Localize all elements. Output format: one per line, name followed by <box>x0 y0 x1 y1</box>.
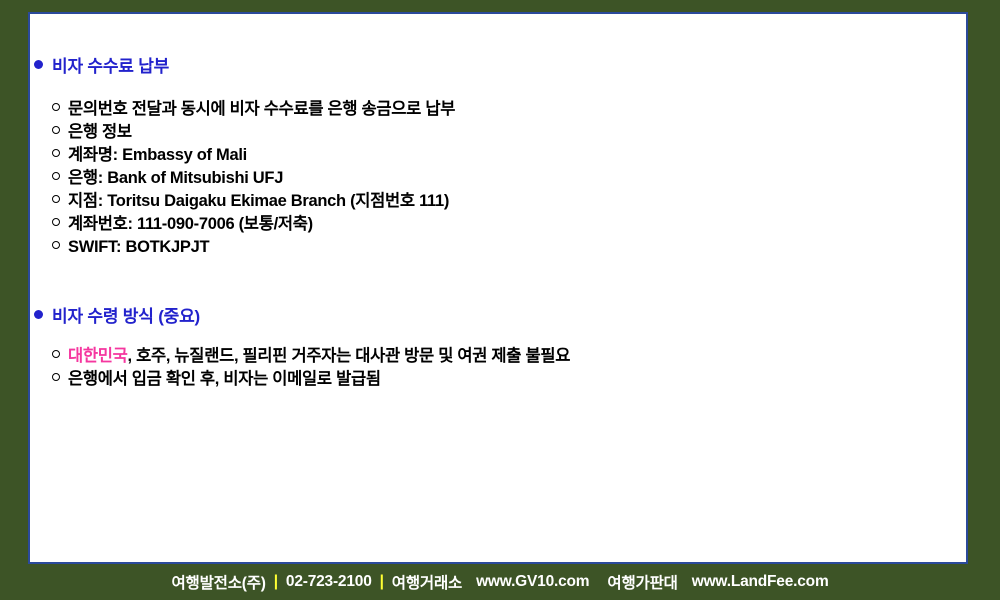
list-item: SWIFT: BOTKJPJT <box>52 236 455 259</box>
filled-bullet-icon <box>34 60 43 69</box>
slide-root: 비자 수수료 납부 문의번호 전달과 동시에 비자 수수료를 은행 송금으로 납… <box>0 0 1000 600</box>
list-item-label: 계좌번호: 111-090-7006 (보통/저축) <box>68 213 313 236</box>
hollow-bullet-icon <box>52 149 60 157</box>
section-heading-visa-delivery-method: 비자 수령 방식 (중요) <box>34 302 200 327</box>
hollow-bullet-icon <box>52 103 60 111</box>
list-item: 은행에서 입금 확인 후, 비자는 이메일로 발급됨 <box>52 368 570 391</box>
list-item: 대한민국, 호주, 뉴질랜드, 필리핀 거주자는 대사관 방문 및 여권 제출 … <box>52 345 570 368</box>
list-item-label: 은행: Bank of Mitsubishi UFJ <box>68 167 283 190</box>
footer-brand-1-url[interactable]: www.GV10.com <box>462 573 589 591</box>
footer-separator-2: | <box>372 573 392 591</box>
footer-phone-number: 02-723-2100 <box>286 573 372 591</box>
hollow-bullet-icon <box>52 373 60 381</box>
footer-separator-1: | <box>266 573 286 591</box>
bullet-list-visa-fee-payment: 문의번호 전달과 동시에 비자 수수료를 은행 송금으로 납부 은행 정보 계좌… <box>52 98 455 259</box>
list-item-label: 은행에서 입금 확인 후, 비자는 이메일로 발급됨 <box>68 368 381 391</box>
list-item: 은행 정보 <box>52 121 455 144</box>
footer-brand-2-name: 여행가판대 <box>589 571 677 593</box>
hollow-bullet-icon <box>52 350 60 358</box>
list-item-label: SWIFT: BOTKJPJT <box>68 236 209 259</box>
footer-brand-2-url[interactable]: www.LandFee.com <box>678 573 829 591</box>
list-item-label: 대한민국, 호주, 뉴질랜드, 필리핀 거주자는 대사관 방문 및 여권 제출 … <box>68 345 570 368</box>
footer-company-name: 여행발전소(주) <box>171 571 265 593</box>
hollow-bullet-icon <box>52 172 60 180</box>
slide-content: 비자 수수료 납부 문의번호 전달과 동시에 비자 수수료를 은행 송금으로 납… <box>30 14 966 36</box>
section-heading-label: 비자 수령 방식 (중요) <box>52 302 200 327</box>
list-item-label: 계좌명: Embassy of Mali <box>68 144 247 167</box>
list-item-label: 지점: Toritsu Daigaku Ekimae Branch (지점번호 … <box>68 190 449 213</box>
list-item-label: 문의번호 전달과 동시에 비자 수수료를 은행 송금으로 납부 <box>68 98 455 121</box>
list-item: 문의번호 전달과 동시에 비자 수수료를 은행 송금으로 납부 <box>52 98 455 121</box>
footer-bar: 여행발전소(주) | 02-723-2100 | 여행거래소 www.GV10.… <box>0 564 1000 600</box>
hollow-bullet-icon <box>52 195 60 203</box>
list-item: 계좌번호: 111-090-7006 (보통/저축) <box>52 213 455 236</box>
list-item: 은행: Bank of Mitsubishi UFJ <box>52 167 455 190</box>
list-item: 계좌명: Embassy of Mali <box>52 144 455 167</box>
section-heading-visa-fee-payment: 비자 수수료 납부 <box>34 52 169 77</box>
filled-bullet-icon <box>34 310 43 319</box>
list-item: 지점: Toritsu Daigaku Ekimae Branch (지점번호 … <box>52 190 455 213</box>
footer-brand-1-name: 여행거래소 <box>392 571 462 593</box>
hollow-bullet-icon <box>52 126 60 134</box>
highlighted-country-label: 대한민국 <box>68 347 128 365</box>
section-heading-label: 비자 수수료 납부 <box>52 52 169 77</box>
bullet-list-visa-delivery-method: 대한민국, 호주, 뉴질랜드, 필리핀 거주자는 대사관 방문 및 여권 제출 … <box>52 345 570 391</box>
slide-canvas: 비자 수수료 납부 문의번호 전달과 동시에 비자 수수료를 은행 송금으로 납… <box>28 12 968 564</box>
list-item-label: 은행 정보 <box>68 121 132 144</box>
hollow-bullet-icon <box>52 218 60 226</box>
list-item-rest-label: , 호주, 뉴질랜드, 필리핀 거주자는 대사관 방문 및 여권 제출 불필요 <box>128 347 571 365</box>
hollow-bullet-icon <box>52 241 60 249</box>
